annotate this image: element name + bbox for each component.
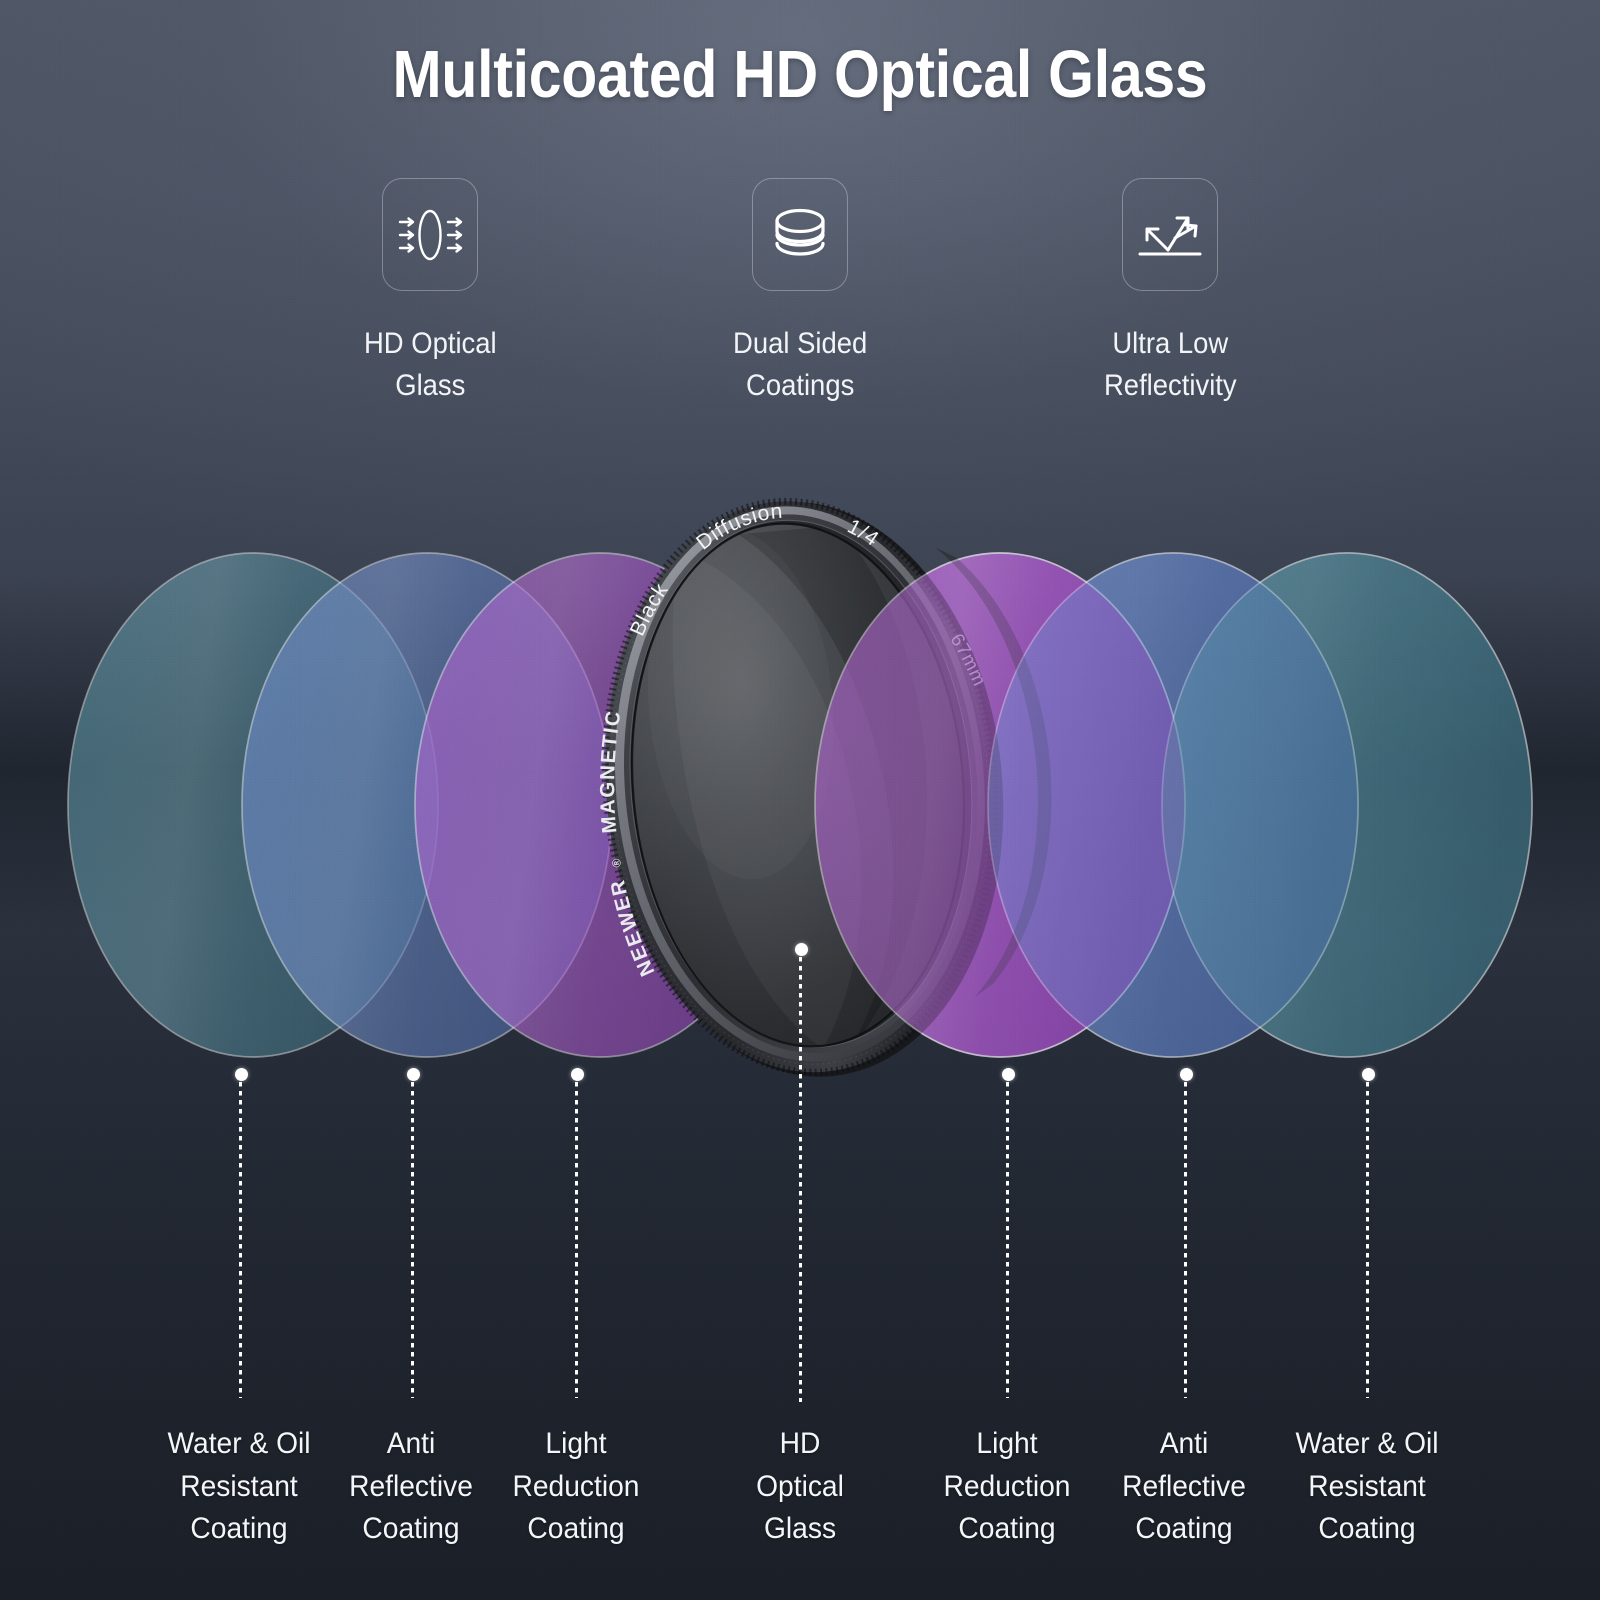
connector-line [1006, 1082, 1009, 1398]
layer-label-anti-reflective-left: Anti Reflective Coating [349, 1423, 473, 1551]
connector-dot [235, 1068, 248, 1081]
layer-label-water-oil-right: Water & Oil Resistant Coating [1295, 1423, 1438, 1551]
connector-line [1184, 1082, 1187, 1398]
connector-dot [795, 943, 808, 956]
connector-dot [407, 1068, 420, 1081]
connector-line [575, 1082, 578, 1398]
connector-dot [1002, 1068, 1015, 1081]
layer-label-anti-reflective-right: Anti Reflective Coating [1122, 1423, 1246, 1551]
connector-dot [571, 1068, 584, 1081]
infographic-root: Multicoated HD Optical Glass [0, 0, 1600, 1600]
connector-dot [1180, 1068, 1193, 1081]
connector-line [411, 1082, 414, 1398]
connector-anti-reflective-right [1176, 1068, 1196, 1398]
connector-hd-optical-glass [791, 943, 811, 1403]
coating-disc-water-oil-right-front [1162, 553, 1532, 1057]
connector-dot [1362, 1068, 1375, 1081]
connector-anti-reflective-left [403, 1068, 423, 1398]
connector-light-reduction-left [567, 1068, 587, 1398]
connector-line [799, 957, 802, 1402]
layer-label-light-reduction-left: Light Reduction Coating [513, 1423, 640, 1551]
layer-label-hd-optical-glass: HD Optical Glass [756, 1423, 844, 1551]
connector-line [1366, 1082, 1369, 1398]
connector-line [239, 1082, 242, 1398]
connector-water-oil-left [231, 1068, 251, 1398]
connector-light-reduction-right [998, 1068, 1018, 1398]
connector-water-oil-right [1358, 1068, 1378, 1398]
layer-label-water-oil-left: Water & Oil Resistant Coating [167, 1423, 310, 1551]
layer-label-light-reduction-right: Light Reduction Coating [944, 1423, 1071, 1551]
